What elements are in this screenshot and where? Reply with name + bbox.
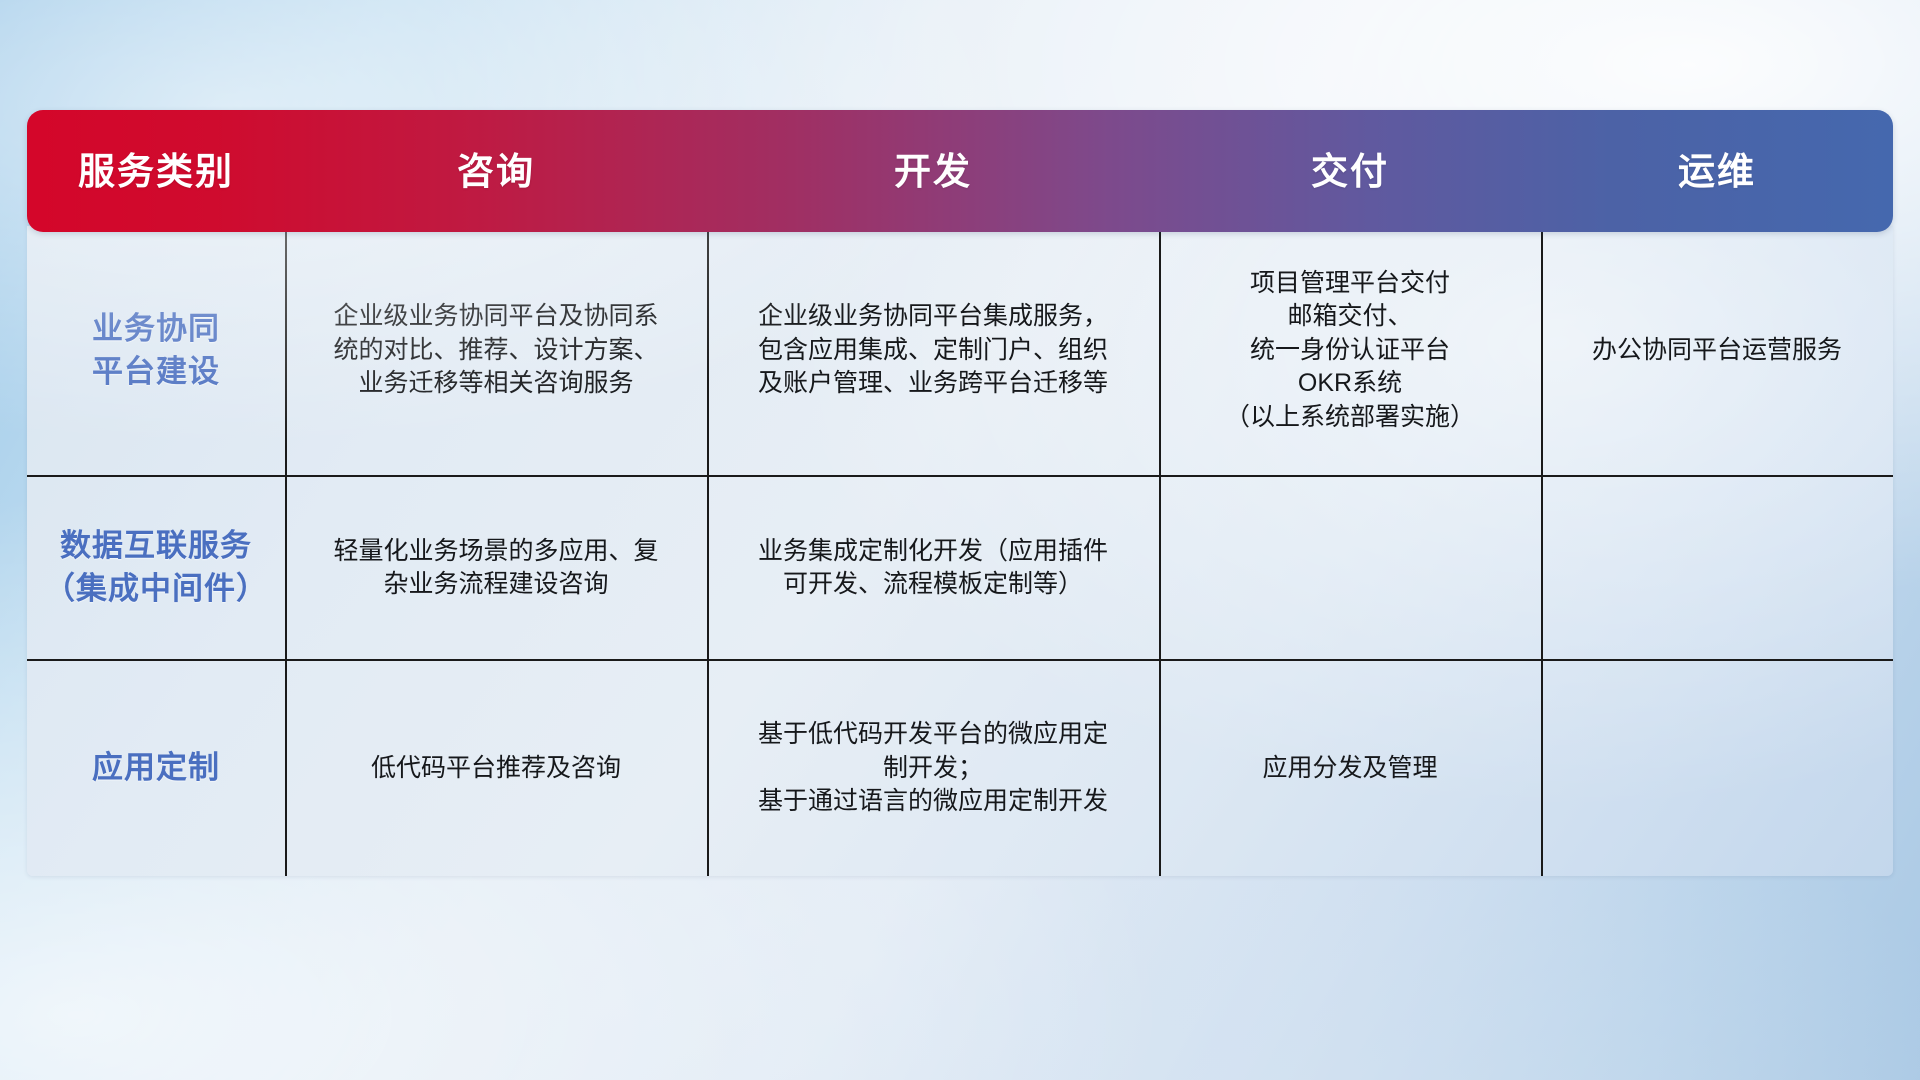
page-background: 服务类别 咨询 开发 交付 运维 业务协同 平台建设 企业级业务协同平台及协同系…: [0, 0, 1920, 1080]
cell-delivery-row-2: [1159, 477, 1541, 659]
row-label-data-interconnect: 数据互联服务 （集成中间件）: [27, 477, 285, 659]
column-header-delivery: 交付: [1159, 110, 1541, 232]
cell-development-row-2: 业务集成定制化开发（应用插件 可开发、流程模板定制等）: [707, 477, 1159, 659]
cell-delivery-row-1: 项目管理平台交付 邮箱交付、 统一身份认证平台 OKR系统 （以上系统部署实施）: [1159, 226, 1541, 475]
cell-development-row-3: 基于低代码开发平台的微应用定 制开发； 基于通过语言的微应用定制开发: [707, 661, 1159, 876]
row-label-business-collaboration: 业务协同 平台建设: [27, 226, 285, 475]
row-label-application-customization: 应用定制: [27, 661, 285, 876]
column-header-delivery-label: 交付: [1311, 153, 1389, 190]
table-body: 业务协同 平台建设 企业级业务协同平台及协同系 统的对比、推荐、设计方案、 业务…: [27, 226, 1893, 876]
column-header-operations-label: 运维: [1678, 153, 1756, 190]
column-header-category-label: 服务类别: [78, 153, 234, 190]
table-header-row: 服务类别 咨询 开发 交付 运维: [27, 110, 1893, 232]
service-category-table: 服务类别 咨询 开发 交付 运维 业务协同 平台建设 企业级业务协同平台及协同系…: [27, 110, 1893, 950]
table-row: 应用定制 低代码平台推荐及咨询 基于低代码开发平台的微应用定 制开发； 基于通过…: [27, 659, 1893, 876]
column-header-consulting: 咨询: [285, 110, 707, 232]
cell-operations-row-1: 办公协同平台运营服务: [1541, 226, 1893, 475]
table-row: 数据互联服务 （集成中间件） 轻量化业务场景的多应用、复 杂业务流程建设咨询 业…: [27, 475, 1893, 659]
column-header-consulting-label: 咨询: [457, 153, 535, 190]
cell-consulting-row-3: 低代码平台推荐及咨询: [285, 661, 707, 876]
cell-development-row-1: 企业级业务协同平台集成服务， 包含应用集成、定制门户、组织 及账户管理、业务跨平…: [707, 226, 1159, 475]
column-header-operations: 运维: [1541, 110, 1893, 232]
column-header-development: 开发: [707, 110, 1159, 232]
column-header-development-label: 开发: [894, 153, 972, 190]
cell-operations-row-2: [1541, 477, 1893, 659]
cell-operations-row-3: [1541, 661, 1893, 876]
cell-consulting-row-2: 轻量化业务场景的多应用、复 杂业务流程建设咨询: [285, 477, 707, 659]
column-header-category: 服务类别: [27, 110, 285, 232]
table-row: 业务协同 平台建设 企业级业务协同平台及协同系 统的对比、推荐、设计方案、 业务…: [27, 226, 1893, 475]
cell-consulting-row-1: 企业级业务协同平台及协同系 统的对比、推荐、设计方案、 业务迁移等相关咨询服务: [285, 226, 707, 475]
cell-delivery-row-3: 应用分发及管理: [1159, 661, 1541, 876]
